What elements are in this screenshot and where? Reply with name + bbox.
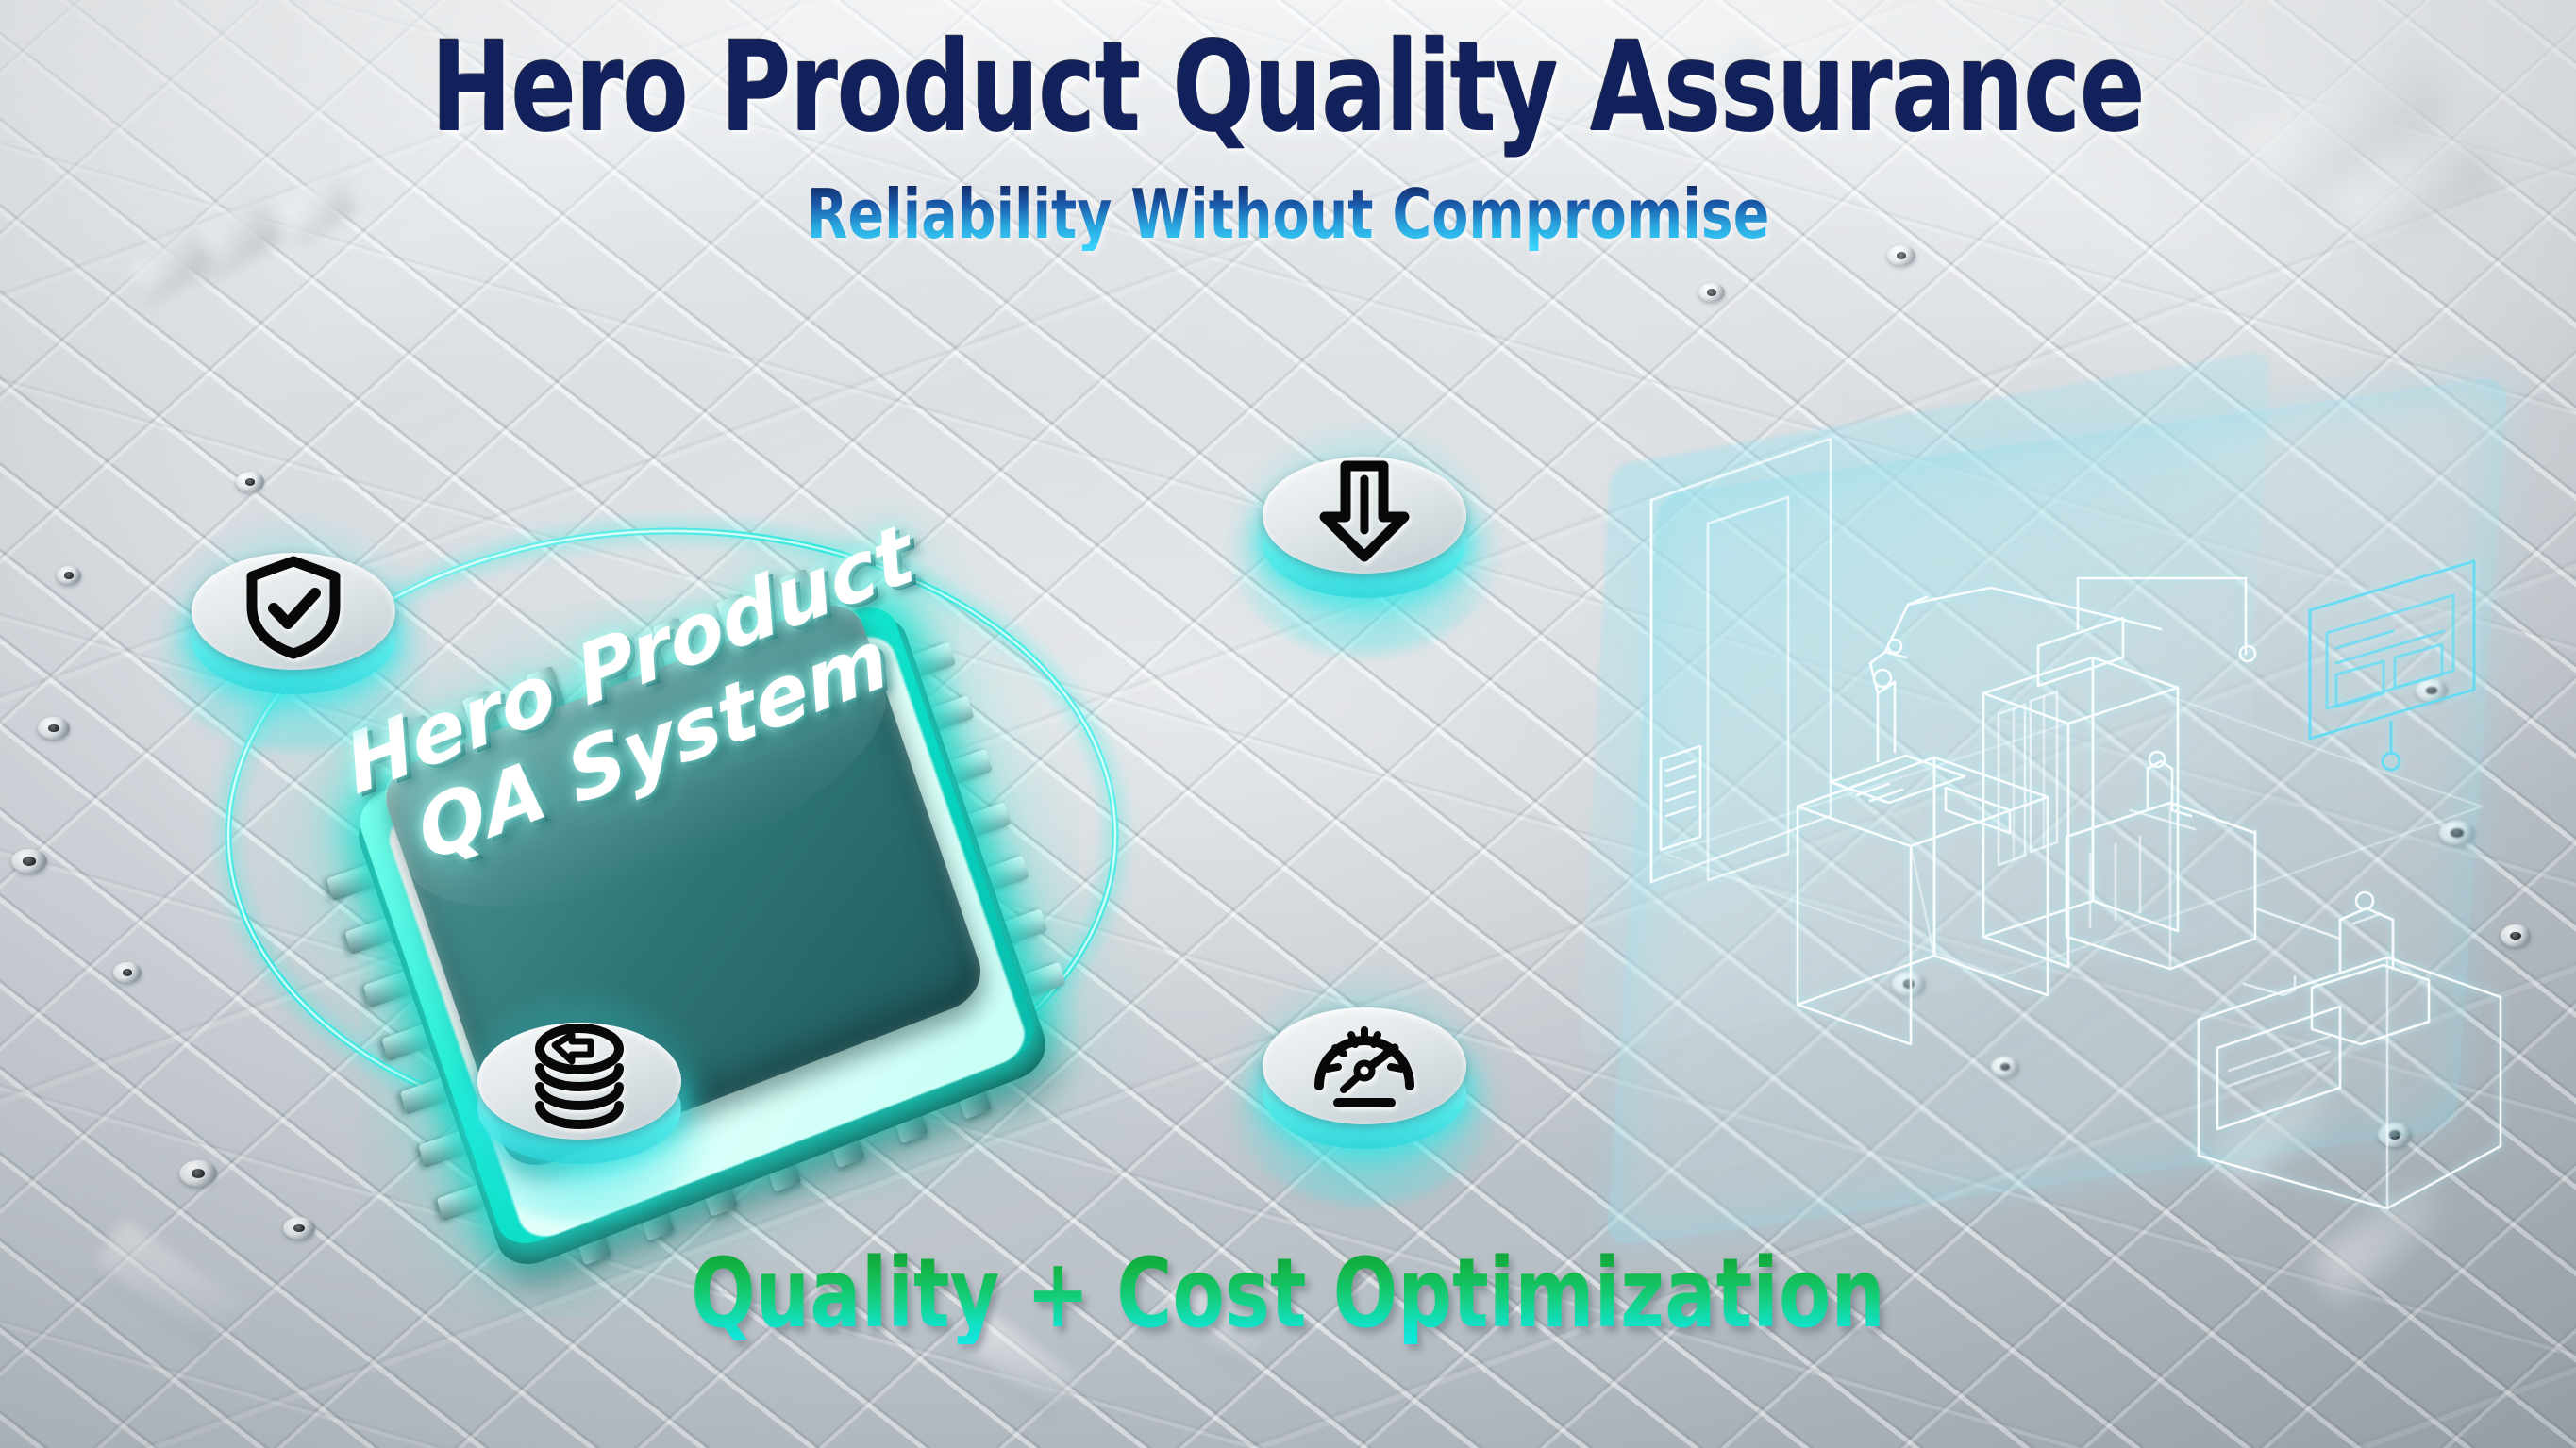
speedometer-icon [1255, 1000, 1474, 1123]
down-arrow-icon [1255, 449, 1474, 572]
page-tagline: Quality + Cost Optimization [155, 1243, 2421, 1344]
down-arrow-icon-disc[interactable] [1255, 441, 1474, 619]
page-subtitle: Reliability Without Compromise [155, 179, 2421, 251]
coin-stack-icon [470, 1015, 689, 1138]
speedometer-icon-disc[interactable] [1255, 992, 1474, 1170]
factory-production-line-hologram [1595, 410, 2524, 1222]
coin-stack-icon-disc[interactable] [470, 1007, 689, 1185]
shield-check-icon [184, 545, 403, 668]
hologram-wireframe [1595, 410, 2524, 1222]
poster-canvas: Hero Product QA System [0, 0, 2576, 1448]
shield-check-icon-disc[interactable] [184, 538, 403, 715]
page-title: Hero Product Quality Assurance [180, 23, 2396, 154]
